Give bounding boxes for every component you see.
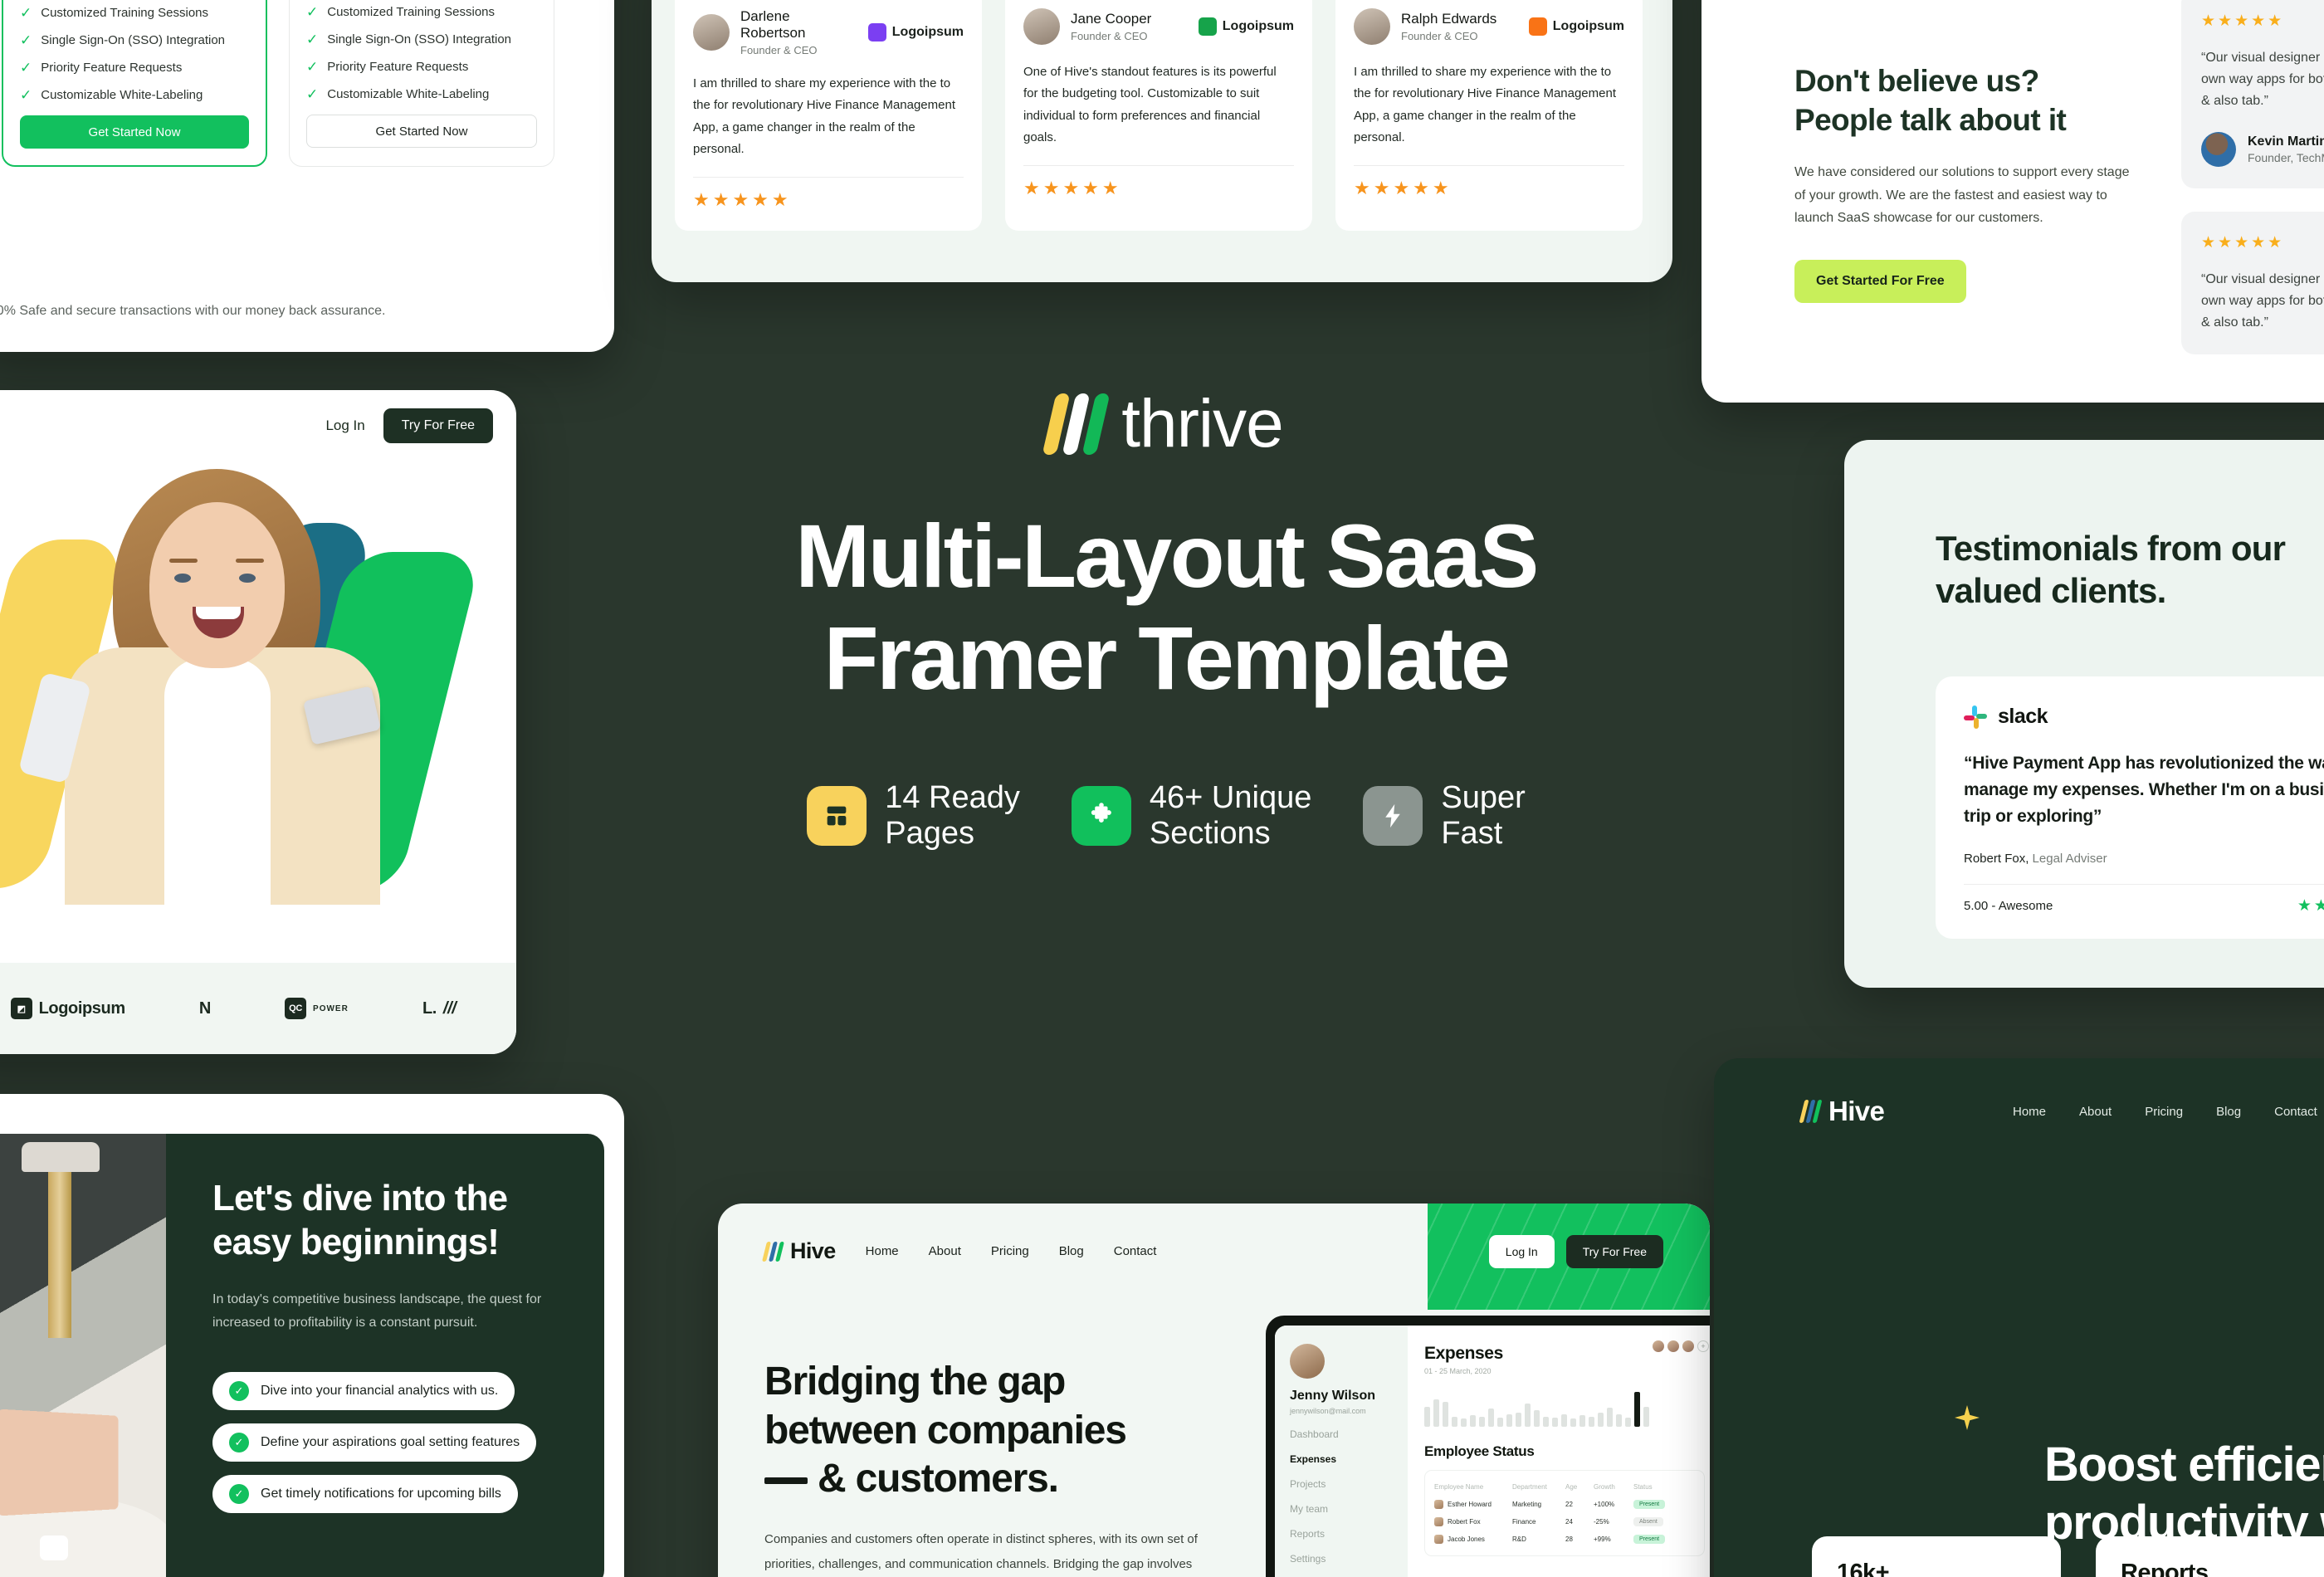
avatar bbox=[1682, 1340, 1694, 1352]
brand-name: thrive bbox=[1121, 390, 1283, 458]
chart-bar bbox=[1579, 1415, 1585, 1427]
list-item-label: Get timely notifications for upcoming bi… bbox=[261, 1487, 501, 1501]
testimonial-quote: “Hive Payment App has revolutionized the… bbox=[1964, 750, 2324, 830]
bolt-icon bbox=[1363, 786, 1423, 846]
chart-bar bbox=[1589, 1417, 1594, 1427]
logo-bars-icon bbox=[1049, 393, 1103, 455]
logo-mark-icon bbox=[1529, 17, 1547, 36]
nav-item-about[interactable]: About bbox=[2079, 1105, 2112, 1119]
list-item-label: Dive into your financial analytics with … bbox=[261, 1384, 498, 1399]
logo-bars-icon bbox=[764, 1242, 782, 1262]
check-icon: ✓ bbox=[229, 1433, 249, 1452]
feature-row: ✓Customized Training Sessions bbox=[306, 5, 537, 19]
check-icon: ✓ bbox=[229, 1484, 249, 1504]
sidebar-item-reports[interactable]: Reports bbox=[1290, 1528, 1393, 1540]
nav-item-home[interactable]: Home bbox=[2013, 1105, 2046, 1119]
expenses-bar-chart bbox=[1424, 1392, 1705, 1427]
check-icon: ✓ bbox=[20, 61, 32, 75]
page-title-line1: Multi-Layout SaaS bbox=[631, 505, 1701, 607]
try-for-free-button[interactable]: Try For Free bbox=[1566, 1235, 1663, 1268]
sparkle-icon bbox=[1955, 1405, 1980, 1430]
chart-bar bbox=[1479, 1417, 1485, 1427]
avatar bbox=[1290, 1344, 1325, 1379]
stat-value: Reports bbox=[2121, 1560, 2320, 1577]
chart-bar bbox=[1433, 1399, 1439, 1427]
logo-mark-icon: ◩ bbox=[11, 998, 32, 1019]
nav-item-contact[interactable]: Contact bbox=[2274, 1105, 2317, 1119]
feature-row: ✓Single Sign-On (SSO) Integration bbox=[306, 32, 537, 46]
hive-logo: Hive bbox=[764, 1238, 836, 1264]
dive-paragraph: In today's competitive business landscap… bbox=[212, 1288, 558, 1336]
check-icon: ✓ bbox=[306, 60, 318, 74]
believe-paragraph: We have considered our solutions to supp… bbox=[1794, 161, 2143, 230]
rating-score: 5.00 - Awesome bbox=[1964, 899, 2053, 913]
chart-bar bbox=[1634, 1392, 1640, 1427]
feature-row: ✓Priority Feature Requests bbox=[306, 60, 537, 74]
avatar bbox=[1667, 1340, 1679, 1352]
avatar bbox=[1434, 1517, 1443, 1526]
stat-card-reports: Reports 100 bbox=[2096, 1536, 2324, 1577]
chart-bar bbox=[1561, 1414, 1567, 1427]
believe-heading-line1: Don't believe us? bbox=[1794, 62, 2143, 101]
feature-row: ✓Customized Training Sessions bbox=[20, 6, 249, 20]
testimonial-card: Jane Cooper Founder & CEO Logoipsum One … bbox=[1005, 0, 1312, 231]
thrive-logo: thrive bbox=[631, 390, 1701, 458]
testimonial-quote: “Our visual designer lets and drop your … bbox=[2201, 47, 2324, 112]
company-name: slack bbox=[1998, 705, 2048, 729]
testimonial-author: Robert Fox, Legal Adviser bbox=[1964, 852, 2324, 866]
check-icon: ✓ bbox=[229, 1381, 249, 1401]
nav-item-about[interactable]: About bbox=[929, 1244, 961, 1258]
client-logo-logoipsum: ◩Logoipsum bbox=[11, 998, 125, 1019]
hero-landing-card: Log In Try For Free ◩Logoipsum N QCPOWER… bbox=[0, 390, 516, 1054]
chart-bar bbox=[1461, 1418, 1467, 1427]
sidebar-item-expenses[interactable]: Expenses bbox=[1290, 1453, 1393, 1465]
feature-row: ✓Customizable White-Labeling bbox=[20, 88, 249, 102]
believe-testimonial-card: ★★★★★ “Our visual designer lets and drop… bbox=[2181, 212, 2324, 355]
layout-icon bbox=[807, 786, 867, 846]
author-name: Darlene Robertson bbox=[740, 8, 857, 41]
nav-item-pricing[interactable]: Pricing bbox=[991, 1244, 1029, 1258]
chart-bar bbox=[1452, 1417, 1457, 1427]
logo-text: Logoipsum bbox=[892, 25, 964, 40]
badge-label: Super Fast bbox=[1441, 780, 1525, 851]
slack-logo: slack bbox=[1964, 705, 2324, 729]
status-badge: Present bbox=[1633, 1535, 1665, 1544]
feature-label: Customizable White-Labeling bbox=[41, 88, 203, 102]
plan-cta-button[interactable]: Get Started Now bbox=[306, 115, 537, 148]
avatar bbox=[1354, 8, 1390, 45]
hive-logo: Hive bbox=[1802, 1096, 1884, 1127]
site-nav: Hive Home About Pricing Blog Contact bbox=[764, 1238, 1156, 1264]
pricing-plan-1: $49 / month ✓Dedicated Account Manager ✓… bbox=[2, 0, 267, 167]
feature-badges: 14 Ready Pages 46+ Unique Sections Super… bbox=[631, 780, 1701, 851]
chart-bar bbox=[1443, 1402, 1448, 1427]
client-logo-strip: ◩Logoipsum N QCPOWER L./// bbox=[0, 963, 516, 1054]
table-row: Jacob Jones R&D 28 +99% Present bbox=[1434, 1531, 1695, 1548]
believe-heading-line2: People talk about it bbox=[1794, 101, 2143, 140]
feature-label: Priority Feature Requests bbox=[327, 60, 468, 74]
testimonial-card: Darlene Robertson Founder & CEO Logoipsu… bbox=[675, 0, 982, 231]
logo-text: Logoipsum bbox=[1553, 19, 1624, 34]
author-name: Jane Cooper bbox=[1071, 11, 1151, 27]
company-logo: Logoipsum bbox=[868, 23, 964, 41]
boost-efficiency-card: Hive Home About Pricing Blog Contact Boo… bbox=[1714, 1058, 2324, 1577]
testimonial-quote: I am thrilled to share my experience wit… bbox=[1354, 61, 1624, 149]
nav-item-pricing[interactable]: Pricing bbox=[2145, 1105, 2183, 1119]
puzzle-icon bbox=[1072, 786, 1131, 846]
author-role: Founder & CEO bbox=[740, 44, 857, 56]
chart-bar bbox=[1516, 1413, 1521, 1427]
list-item: ✓Get timely notifications for upcoming b… bbox=[212, 1475, 518, 1513]
feature-label: Customizable White-Labeling bbox=[327, 87, 489, 101]
testimonial-header: Ralph Edwards Founder & CEO Logoipsum bbox=[1354, 8, 1624, 45]
sidebar-item-projects[interactable]: Projects bbox=[1290, 1478, 1393, 1490]
believe-testimonial-card: ★★★★★ “Our visual designer lets and drop… bbox=[2181, 0, 2324, 188]
stat-value: 16k+ bbox=[1837, 1560, 2036, 1577]
check-icon: ✓ bbox=[306, 87, 318, 101]
check-icon: ✓ bbox=[20, 33, 32, 47]
testimonial-header: Jane Cooper Founder & CEO Logoipsum bbox=[1023, 8, 1294, 45]
star-rating: ★★★★★ bbox=[693, 189, 964, 211]
feature-label: Single Sign-On (SSO) Integration bbox=[41, 33, 225, 47]
sidebar-item-my-team[interactable]: My team bbox=[1290, 1503, 1393, 1515]
bridge-heading-line1: Bridging the gap bbox=[764, 1358, 1229, 1407]
logo-mark-icon bbox=[1199, 17, 1217, 36]
testimonial-header: Darlene Robertson Founder & CEO Logoipsu… bbox=[693, 8, 964, 56]
chart-bar bbox=[1607, 1408, 1613, 1427]
employee-status-title: Employee Status bbox=[1424, 1443, 1705, 1460]
dive-heading-line1: Let's dive into the bbox=[212, 1177, 558, 1221]
dive-heading: Let's dive into the easy beginnings! bbox=[212, 1177, 558, 1265]
chart-bar bbox=[1525, 1404, 1531, 1427]
divider bbox=[1354, 165, 1624, 166]
chart-bar bbox=[1488, 1409, 1494, 1427]
list-item: ✓Define your aspirations goal setting fe… bbox=[212, 1423, 536, 1462]
check-icon: ✓ bbox=[306, 32, 318, 46]
testimonial-author: Kevin Martin Founder, TechM bbox=[2201, 132, 2324, 167]
author-name: Kevin Martin bbox=[2248, 134, 2324, 149]
badge-unique-sections: 46+ Unique Sections bbox=[1072, 780, 1311, 851]
date-range: 01 - 25 March, 2020 bbox=[1424, 1367, 1705, 1375]
testimonial-card: Ralph Edwards Founder & CEO Logoipsum I … bbox=[1335, 0, 1643, 231]
pricing-card: $49 / month ✓Dedicated Account Manager ✓… bbox=[0, 0, 614, 352]
poster-center-content: thrive Multi-Layout SaaS Framer Template… bbox=[631, 390, 1701, 851]
status-badge: Absent bbox=[1633, 1517, 1663, 1526]
feature-row: ✓Customizable White-Labeling bbox=[306, 87, 537, 101]
logo-text: Logoipsum bbox=[1223, 19, 1294, 34]
chart-bar bbox=[1497, 1418, 1503, 1427]
check-icon: ✓ bbox=[306, 5, 318, 19]
badge-ready-pages: 14 Ready Pages bbox=[807, 780, 1020, 851]
believe-testimonial-list: ★★★★★ “Our visual designer lets and drop… bbox=[2181, 0, 2324, 378]
chart-bar bbox=[1643, 1407, 1649, 1427]
valued-clients-card: Testimonials from our valued clients. sl… bbox=[1844, 440, 2324, 988]
login-button[interactable]: Log In bbox=[1489, 1235, 1555, 1268]
sidebar-item-dashboard[interactable]: Dashboard bbox=[1290, 1428, 1393, 1440]
check-icon: ✓ bbox=[20, 6, 32, 20]
star-rating: ★★★★★ bbox=[1354, 178, 1624, 199]
status-badge: Present bbox=[1633, 1500, 1665, 1509]
chart-bar bbox=[1506, 1414, 1512, 1427]
user-email: jennywilson@mail.com bbox=[1290, 1407, 1393, 1415]
testimonial-quote: One of Hive's standout features is its p… bbox=[1023, 61, 1294, 149]
easy-beginnings-card: Let's dive into the easy beginnings! In … bbox=[0, 1094, 624, 1577]
badge-label: 46+ Unique Sections bbox=[1150, 780, 1311, 851]
page-title-line2: Framer Template bbox=[631, 607, 1701, 709]
avatar bbox=[1434, 1500, 1443, 1509]
pricing-plan-2: $99 / month ✓Dedicated Account Manager ✓… bbox=[289, 0, 554, 167]
chart-bar bbox=[1470, 1415, 1476, 1427]
dashboard-sidebar: Jenny Wilson jennywilson@mail.com Dashbo… bbox=[1275, 1326, 1408, 1577]
chart-bar bbox=[1552, 1418, 1558, 1427]
list-item: ✓Dive into your financial analytics with… bbox=[212, 1372, 515, 1410]
author-role: Founder & CEO bbox=[1071, 30, 1151, 42]
dont-believe-us-card: Don't believe us? People talk about it W… bbox=[1701, 0, 2324, 403]
star-rating: ★★★★★ bbox=[1023, 178, 1294, 199]
divider bbox=[693, 177, 964, 178]
logo-mark-icon bbox=[868, 23, 886, 41]
table-row: Robert Fox Finance 24 -25% Absent bbox=[1434, 1513, 1695, 1531]
dive-heading-line2: easy beginnings! bbox=[212, 1221, 558, 1265]
feature-row: ✓Single Sign-On (SSO) Integration bbox=[20, 33, 249, 47]
sidebar-item-settings[interactable]: Settings bbox=[1290, 1553, 1393, 1565]
list-item-label: Define your aspirations goal setting fea… bbox=[261, 1435, 520, 1450]
bridging-gap-card: Hive Home About Pricing Blog Contact Log… bbox=[718, 1203, 1710, 1577]
brand-name: Hive bbox=[790, 1238, 836, 1264]
stats-row: 16k+ Active users Reports 100 bbox=[1812, 1536, 2324, 1577]
client-logo-qc: QCPOWER bbox=[285, 998, 349, 1019]
try-for-free-button[interactable]: Try For Free bbox=[383, 408, 493, 443]
divider bbox=[1964, 884, 2324, 885]
client-logo-lpw: L./// bbox=[422, 999, 456, 1018]
pricing-columns: $49 / month ✓Dedicated Account Manager ✓… bbox=[2, 0, 586, 167]
hero-person-photo bbox=[56, 469, 388, 901]
feature-label: Single Sign-On (SSO) Integration bbox=[327, 32, 511, 46]
feature-label: Customized Training Sessions bbox=[327, 5, 495, 19]
check-icon: ✓ bbox=[20, 88, 32, 102]
avatar bbox=[1434, 1535, 1443, 1544]
badge-label: 14 Ready Pages bbox=[885, 780, 1020, 851]
testimonial-quote: I am thrilled to share my experience wit… bbox=[693, 73, 964, 160]
star-rating: ★★★★★ bbox=[2297, 896, 2324, 915]
nav-item-contact[interactable]: Contact bbox=[1114, 1244, 1157, 1258]
login-link[interactable]: Log In bbox=[325, 417, 364, 434]
star-rating: ★★★★★ bbox=[2201, 233, 2324, 252]
workspace-photo bbox=[0, 1134, 166, 1577]
feature-label: Priority Feature Requests bbox=[41, 61, 182, 75]
star-rating: ★★★★★ bbox=[2201, 12, 2324, 31]
table-header-row: Employee Name Department Age Growth Stat… bbox=[1434, 1478, 1695, 1496]
author-name: Robert Fox, bbox=[1964, 852, 2029, 866]
avatar bbox=[1023, 8, 1060, 45]
member-avatars: + bbox=[1653, 1340, 1709, 1352]
avatar bbox=[693, 14, 730, 51]
bridge-heading-line3: & customers. bbox=[818, 1457, 1058, 1501]
testimonial-trio-panel: Darlene Robertson Founder & CEO Logoipsu… bbox=[652, 0, 1672, 282]
author-role: Founder & CEO bbox=[1401, 30, 1496, 42]
chart-bar bbox=[1598, 1413, 1604, 1427]
chart-bar bbox=[1424, 1407, 1430, 1427]
feature-row: ✓Priority Feature Requests bbox=[20, 61, 249, 75]
company-logo: Logoipsum bbox=[1529, 17, 1624, 36]
chart-bar bbox=[1570, 1418, 1576, 1427]
badge-super-fast: Super Fast bbox=[1363, 780, 1525, 851]
employee-status-table: Employee Name Department Age Growth Stat… bbox=[1424, 1470, 1705, 1556]
avatar bbox=[1653, 1340, 1664, 1352]
brand-name: Hive bbox=[1828, 1096, 1884, 1127]
add-member-icon[interactable]: + bbox=[1697, 1340, 1709, 1352]
page-title: Multi-Layout SaaS Framer Template bbox=[631, 505, 1701, 709]
divider bbox=[1023, 165, 1294, 166]
get-started-for-free-button[interactable]: Get Started For Free bbox=[1794, 260, 1966, 303]
valued-heading: Testimonials from our valued clients. bbox=[1936, 527, 2324, 612]
user-name: Jenny Wilson bbox=[1290, 1389, 1393, 1404]
logo-bars-icon bbox=[1802, 1100, 1819, 1123]
avatar bbox=[2201, 132, 2236, 167]
author-role: Founder, TechM bbox=[2248, 151, 2324, 164]
slack-icon bbox=[1964, 705, 1987, 729]
nav-item-blog[interactable]: Blog bbox=[1059, 1244, 1084, 1258]
chart-bar bbox=[1616, 1414, 1622, 1427]
bridge-heading-line2: between companies bbox=[764, 1407, 1229, 1456]
nav-item-blog[interactable]: Blog bbox=[2216, 1105, 2241, 1119]
boost-heading: Boost efficien productivity w bbox=[2044, 1436, 2324, 1551]
nav-item-home[interactable]: Home bbox=[866, 1244, 899, 1258]
dash-decoration bbox=[764, 1477, 808, 1484]
chart-bar bbox=[1543, 1417, 1549, 1427]
qc-icon: QC bbox=[285, 998, 306, 1019]
company-logo: Logoipsum bbox=[1199, 17, 1294, 36]
site-nav: Home About Pricing Blog Contact bbox=[2013, 1105, 2317, 1119]
plan-cta-button[interactable]: Get Started Now bbox=[20, 115, 249, 149]
dashboard-device-mockup: Jenny Wilson jennywilson@mail.com Dashbo… bbox=[1266, 1316, 1710, 1577]
client-logo-n: N bbox=[199, 999, 211, 1018]
feature-label: Customized Training Sessions bbox=[41, 6, 208, 20]
table-row: Esther Howard Marketing 22 +100% Present bbox=[1434, 1496, 1695, 1513]
testimonial-quote: “Our visual designer lets and drop your … bbox=[2201, 269, 2324, 334]
dive-feature-list: ✓Dive into your financial analytics with… bbox=[212, 1372, 558, 1513]
pricing-note: 100% Safe and secure transactions with o… bbox=[0, 304, 614, 319]
stat-card-active-users: 16k+ Active users bbox=[1812, 1536, 2061, 1577]
believe-heading: Don't believe us? People talk about it bbox=[1794, 62, 2143, 139]
chart-bar bbox=[1534, 1410, 1540, 1427]
bridge-paragraph: Companies and customers often operate in… bbox=[764, 1527, 1213, 1577]
boost-heading-line1: Boost efficien bbox=[2044, 1436, 2324, 1494]
chart-bar bbox=[1625, 1418, 1631, 1427]
poster-canvas: $49 / month ✓Dedicated Account Manager ✓… bbox=[0, 0, 2324, 1577]
author-role: Legal Adviser bbox=[2029, 852, 2107, 866]
dashboard-main: Expenses 01 - 25 March, 2020 + Employee … bbox=[1408, 1326, 1710, 1577]
slack-testimonial-card: slack “Hive Payment App has revolutioniz… bbox=[1936, 676, 2324, 939]
author-name: Ralph Edwards bbox=[1401, 11, 1496, 27]
bridge-heading: Bridging the gap between companies & cus… bbox=[764, 1358, 1229, 1504]
